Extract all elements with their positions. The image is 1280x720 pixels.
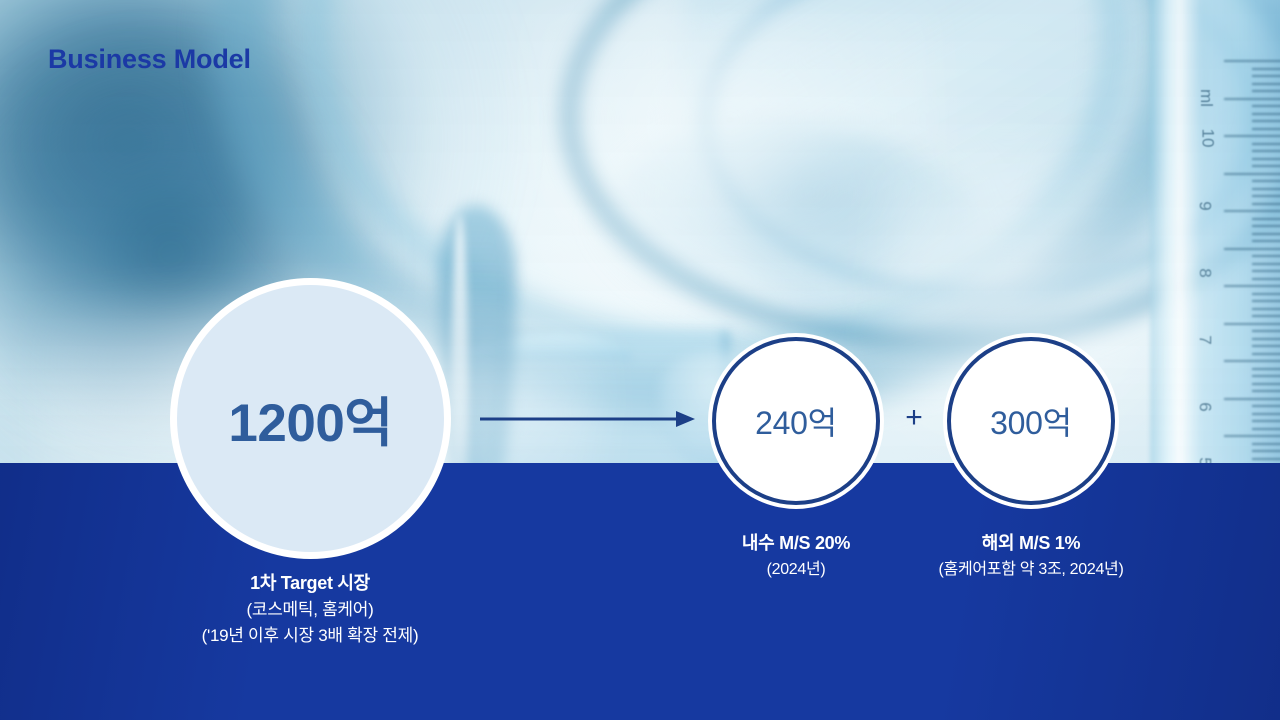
market-size-value-overseas: 300억 <box>990 398 1072 444</box>
caption-main: 1차 Target 시장 (코스메틱, 홈케어) ('19년 이후 시장 3배 … <box>160 570 460 649</box>
caption-overseas: 해외 M/S 1% (홈케어포함 약 3조, 2024년) <box>896 530 1166 582</box>
market-size-circle-main[interactable]: 1200억 <box>170 278 451 559</box>
caption-main-line2: (코스메틱, 홈케어) <box>160 597 460 623</box>
caption-overseas-line1: 해외 M/S 1% <box>896 530 1166 557</box>
market-size-circle-domestic[interactable]: 240억 <box>712 337 880 505</box>
caption-main-line1: 1차 Target 시장 <box>160 570 460 597</box>
arrow-right-icon <box>480 408 695 430</box>
page-title: Business Model <box>48 44 251 75</box>
market-size-circle-overseas[interactable]: 300억 <box>947 337 1115 505</box>
plus-icon: + <box>897 398 931 438</box>
caption-overseas-line2: (홈케어포함 약 3조, 2024년) <box>896 557 1166 582</box>
caption-domestic-line1: 내수 M/S 20% <box>671 530 921 557</box>
market-size-value-main: 1200억 <box>228 381 392 457</box>
slide-canvas: ml 10 9 8 7 6 5 Business Model 1200억 240… <box>0 0 1280 720</box>
caption-main-line3: ('19년 이후 시장 3배 확장 전제) <box>160 623 460 649</box>
caption-domestic-line2: (2024년) <box>671 557 921 582</box>
market-size-value-domestic: 240억 <box>755 398 837 444</box>
caption-domestic: 내수 M/S 20% (2024년) <box>671 530 921 582</box>
